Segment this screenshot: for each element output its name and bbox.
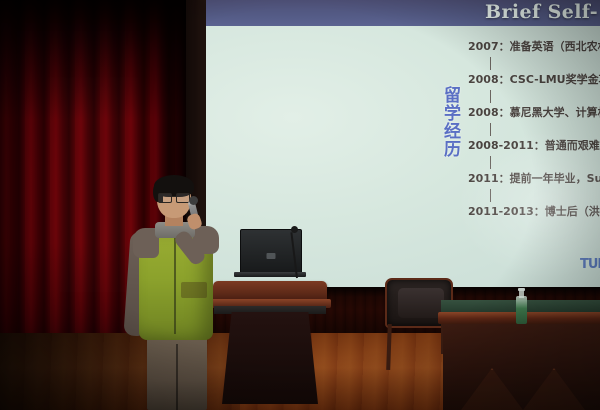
gooseneck-microphone-head-icon — [291, 226, 298, 233]
glasses-bridge — [170, 196, 176, 197]
laptop-logo-icon — [267, 253, 276, 259]
water-bottle — [516, 288, 527, 324]
slide-section-label: 留学经历 — [434, 86, 458, 158]
microphone-capsule-icon — [189, 196, 198, 205]
table-panel-pattern — [461, 368, 585, 410]
glasses-left-lens — [158, 193, 172, 203]
presenter-glasses-icon — [158, 193, 190, 201]
lecture-hall-photo: Brief Self- 留学经历 2007：准备英语（西北农林科技大学） 200… — [0, 0, 600, 410]
timeline-entry: 2008：CSC-LMU奖学金项目（47个月） — [468, 73, 600, 87]
timeline-connector — [490, 90, 491, 103]
bottle-neck — [519, 290, 524, 298]
timeline-entry: 2011：提前一年毕业，Summa cum laude 最高荣誉 — [468, 172, 600, 186]
trouser-seam — [176, 344, 178, 410]
timeline-connector — [490, 189, 491, 202]
podium-body — [222, 312, 318, 404]
jacket-pocket — [181, 282, 207, 298]
timeline-entry: 2007：准备英语（西北农林科技大学） — [468, 40, 600, 54]
timeline-connector — [490, 123, 491, 136]
presenter — [119, 178, 225, 410]
timeline-entry: 2008-2011：普通而艰难的科研历程（数据挖掘/医学） — [468, 139, 600, 153]
tum-logo: TUM — [580, 257, 600, 272]
curtain-top-shadow — [0, 0, 186, 120]
slide-timeline: 2007：准备英语（西北农林科技大学） 2008：CSC-LMU奖学金项目（47… — [468, 40, 600, 219]
bottle-body — [516, 296, 527, 324]
table-front-panel — [443, 324, 600, 410]
timeline-connector — [490, 156, 491, 169]
slide-title: Brief Self- — [485, 1, 598, 23]
bottle-cap — [518, 288, 525, 291]
timeline-entry: 2008：慕尼黑大学、计算机系、数据挖掘中心 — [468, 106, 600, 120]
timeline-entry: 2011-2013：博士后（洪堡基金）——〉 回国 — [468, 205, 600, 219]
jacket-zipper — [174, 234, 176, 334]
timeline-connector — [490, 57, 491, 70]
